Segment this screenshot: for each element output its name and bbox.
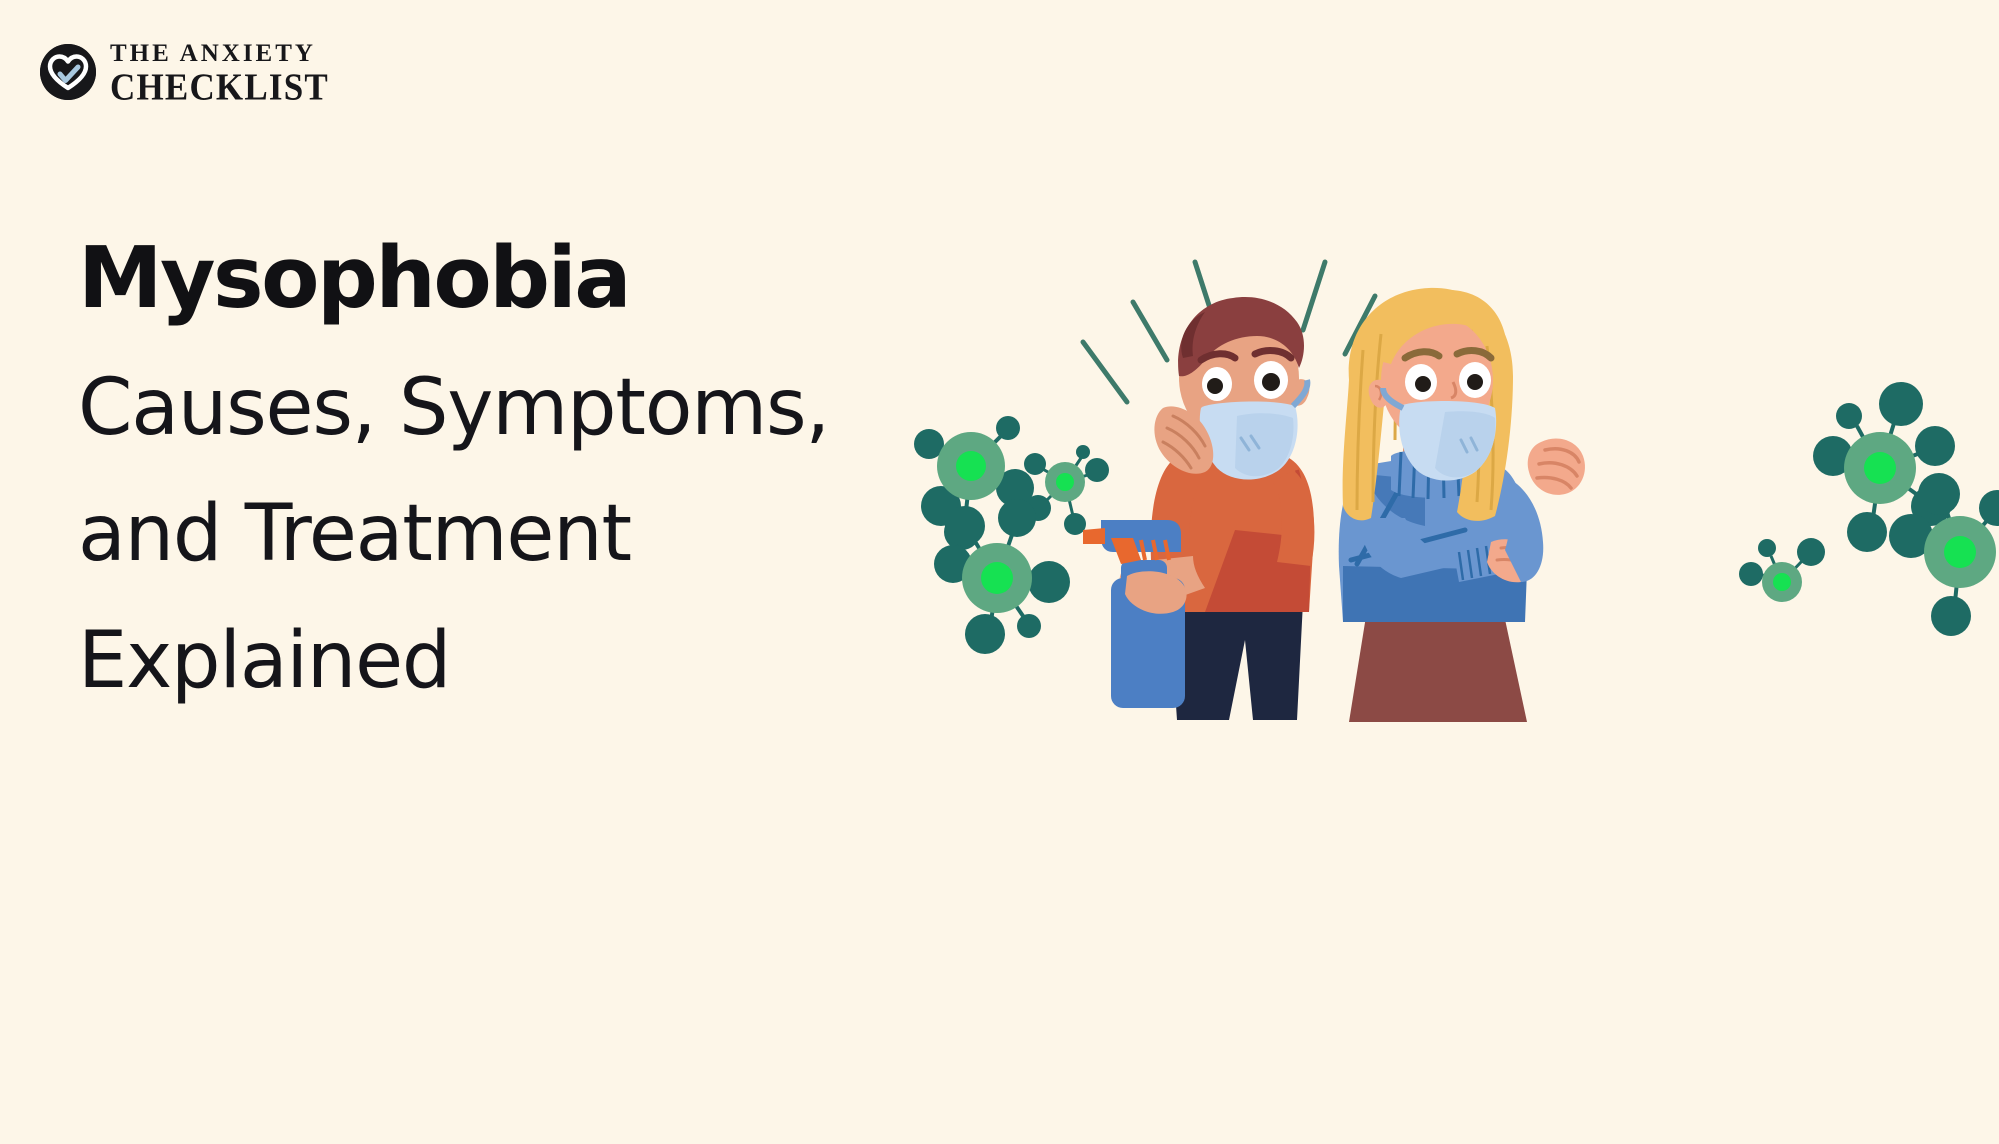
- woman-figure: [1339, 288, 1585, 722]
- headline-block: Mysophobia Causes, Symptoms, and Treatme…: [78, 236, 978, 724]
- germ-icon: [1813, 382, 1955, 552]
- germ-icon: [1739, 538, 1825, 602]
- germ-cluster-right: [1739, 382, 1999, 636]
- brand-wordmark: THE ANXIETY CHECKLIST: [110, 41, 329, 103]
- brand-logo[interactable]: THE ANXIETY CHECKLIST: [40, 41, 329, 103]
- subtitle-line-2: and Treatment: [78, 471, 978, 597]
- heart-check-icon: [40, 44, 96, 100]
- brand-line-1: THE ANXIETY: [110, 41, 329, 66]
- germ-cluster-left: [914, 416, 1109, 654]
- woman-raised-hand: [1528, 438, 1585, 494]
- man-figure: [1083, 297, 1314, 720]
- page-title: Mysophobia: [78, 236, 978, 321]
- spray-nozzle: [1083, 528, 1105, 544]
- woman-skirt: [1349, 610, 1527, 722]
- spray-bottle: [1083, 520, 1187, 708]
- germ-icon: [934, 499, 1070, 654]
- subtitle-line-3: Explained: [78, 598, 978, 724]
- brand-line-2: CHECKLIST: [110, 68, 329, 106]
- germ-icon: [1024, 445, 1109, 535]
- illustration-two-people-masks-germs: [905, 230, 1999, 750]
- germ-icon: [1889, 473, 1999, 636]
- subtitle-line-1: Causes, Symptoms,: [78, 345, 978, 471]
- man-pants: [1169, 602, 1303, 720]
- poster-canvas: THE ANXIETY CHECKLIST Mysophobia Causes,…: [0, 0, 1999, 1144]
